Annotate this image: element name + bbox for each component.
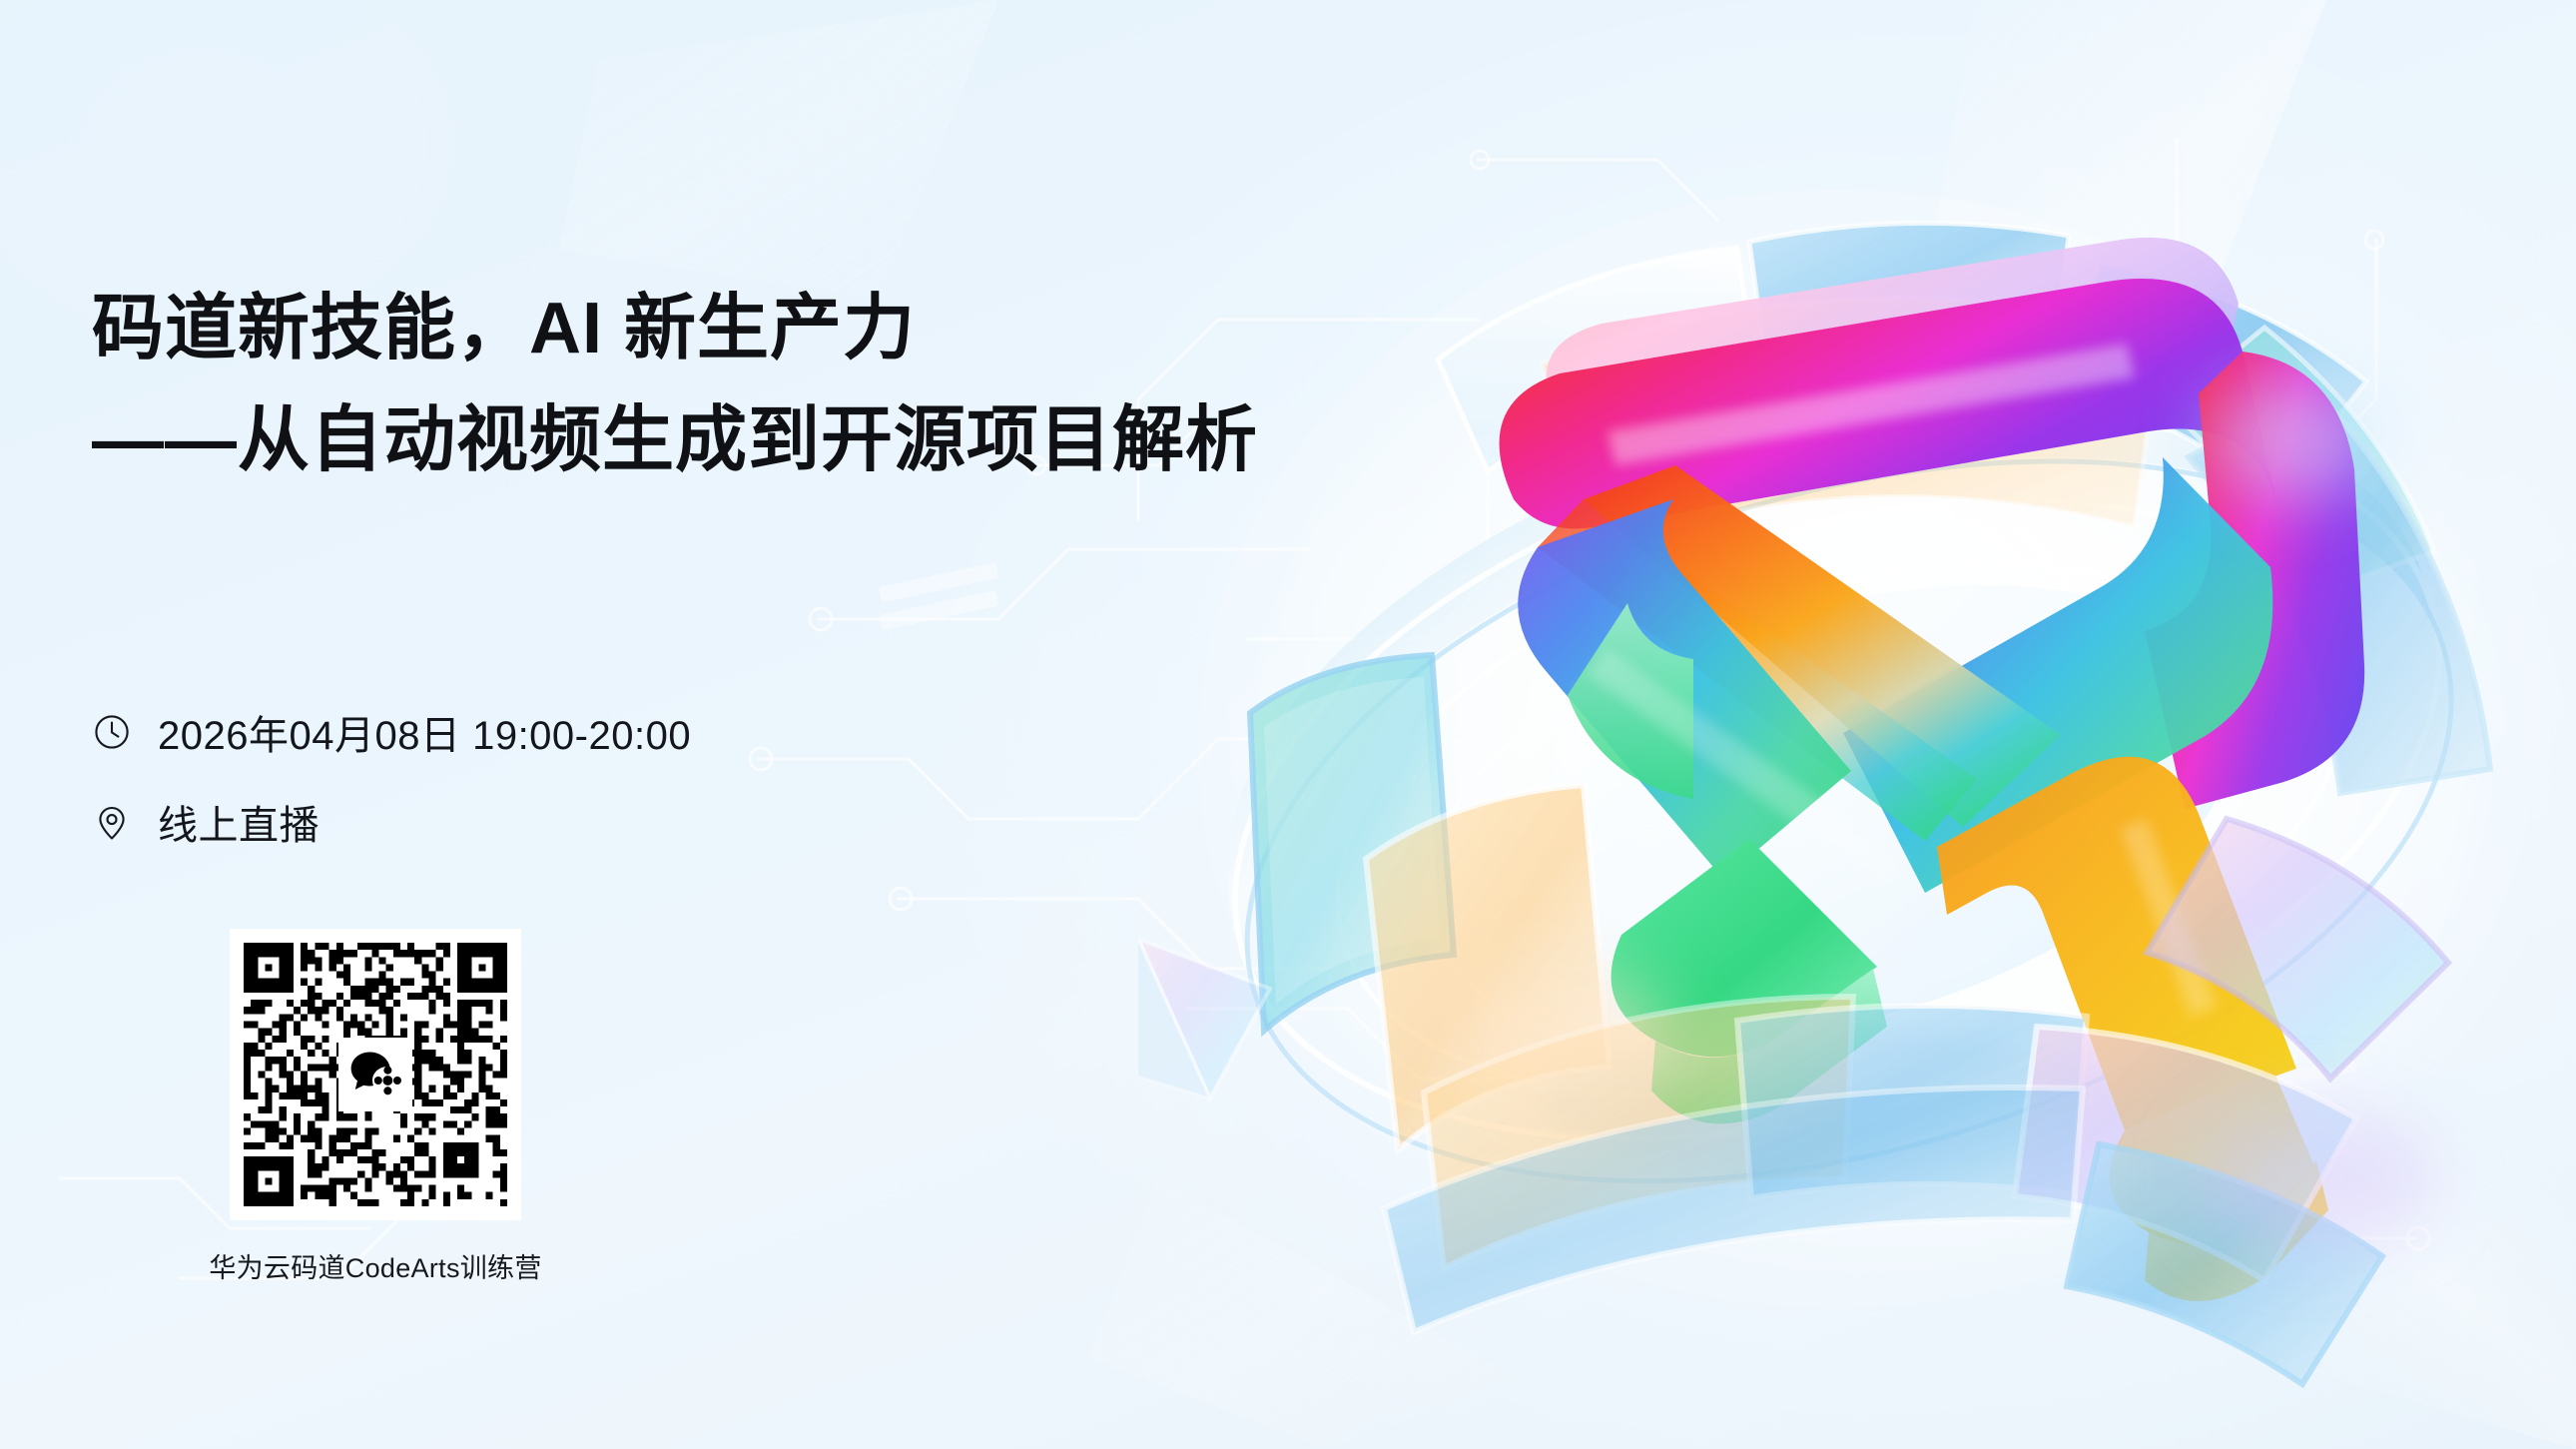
codearts-3d-emblem [1138, 60, 2576, 1449]
qr-block: 华为云码道CodeArts训练营 [230, 929, 521, 1285]
glass-tetrahedron [1138, 939, 1270, 1098]
event-venue-text: 线上直播 [158, 793, 320, 851]
event-details: 2026年04月08日 19:00-20:00 线上直播 [92, 701, 990, 853]
promo-banner: 码道新技能，AI 新生产力 ——从自动视频生成到开源项目解析 2026年04月0… [0, 0, 2576, 1449]
location-pin-icon [92, 802, 132, 842]
event-venue-row: 线上直播 [92, 791, 990, 853]
qr-caption: 华为云码道CodeArts训练营 [190, 1246, 561, 1285]
qr-frame[interactable] [230, 929, 521, 1220]
event-datetime-row: 2026年04月08日 19:00-20:00 [92, 701, 990, 763]
page-title-line-2: ——从自动视频生成到开源项目解析 [92, 403, 1130, 479]
title-block: 码道新技能，AI 新生产力 ——从自动视频生成到开源项目解析 [92, 292, 1130, 478]
page-title-line-1: 码道新技能，AI 新生产力 [92, 292, 1130, 367]
speech-bubble-icon [338, 1038, 412, 1111]
clock-icon [92, 712, 132, 752]
content-column: 码道新技能，AI 新生产力 ——从自动视频生成到开源项目解析 2026年04月0… [92, 0, 1150, 1449]
event-datetime-text: 2026年04月08日 19:00-20:00 [158, 703, 691, 761]
